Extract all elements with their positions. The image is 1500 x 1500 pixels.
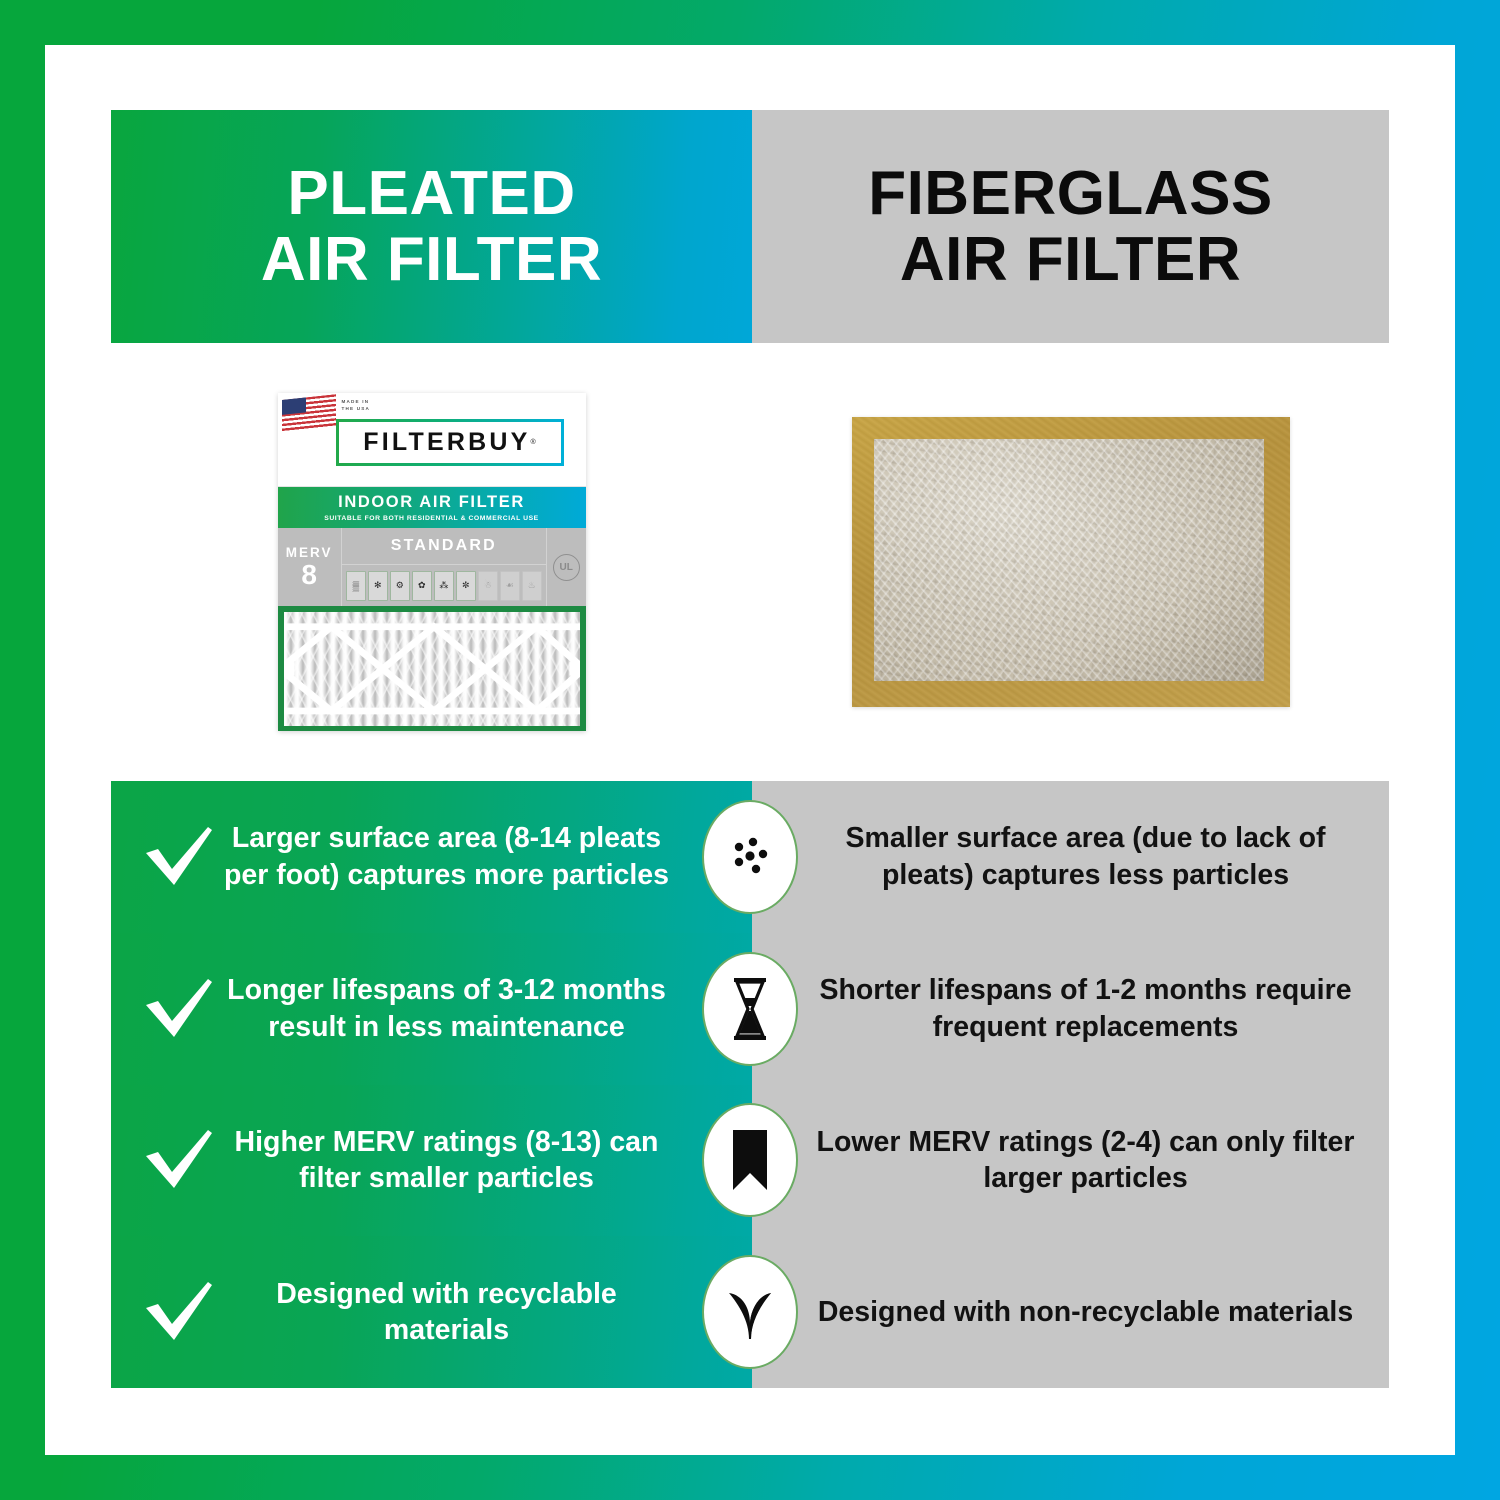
inner-canvas: PLEATED AIR FILTER FIBERGLASS AIR FILTER… [45, 45, 1455, 1455]
particles-icon [702, 800, 798, 914]
brand-frame: FILTERBUY® [336, 419, 564, 466]
pleated-benefit-text: Larger surface area (8-14 pleats per foo… [221, 820, 730, 893]
comparison-row: Longer lifespans of 3-12 months result i… [111, 933, 1389, 1085]
merv-label: MERV [286, 545, 333, 560]
fiberglass-drawback-cell: Shorter lifespans of 1-2 months require … [752, 933, 1389, 1085]
fiberglass-filter-image [852, 417, 1290, 707]
hair-icon: ⁂ [434, 571, 454, 601]
pleated-benefit-cell: Designed with recyclable materials [111, 1236, 752, 1388]
check-icon [137, 977, 221, 1041]
header-fiberglass-title: FIBERGLASS AIR FILTER [868, 161, 1273, 291]
pleated-media-area [278, 606, 586, 731]
box-band-subtitle: SUITABLE FOR BOTH RESIDENTIAL & COMMERCI… [324, 515, 538, 522]
product-cell-fiberglass [752, 343, 1389, 781]
filterbuy-box-image: MADE IN THE USA FILTERBUY® INDOOR AIR FI… [278, 393, 586, 731]
product-cell-pleated: MADE IN THE USA FILTERBUY® INDOOR AIR FI… [111, 343, 752, 781]
bookmark-icon [702, 1103, 798, 1217]
capture-icon-strip: ▒✻⚙✿⁂✼☃☙♨ [342, 565, 546, 606]
made-in-usa-label: MADE IN THE USA [342, 399, 371, 413]
header-fiberglass: FIBERGLASS AIR FILTER [752, 110, 1389, 343]
box-spec-area: MERV 8 STANDARD ▒✻⚙✿⁂✼☃☙♨ UL [278, 528, 586, 606]
fiberglass-drawback-text: Designed with non-recyclable materials [812, 1294, 1359, 1330]
us-flag-icon [282, 394, 336, 432]
bacteria-icon: ☙ [500, 571, 520, 601]
header-pleated: PLEATED AIR FILTER [111, 110, 752, 343]
fiber-shading [874, 439, 1264, 681]
brand-trademark: ® [531, 439, 536, 446]
fiberglass-drawback-cell: Smaller surface area (due to lack of ple… [752, 781, 1389, 933]
certification-cell: UL [546, 528, 586, 606]
comparison-infographic: PLEATED AIR FILTER FIBERGLASS AIR FILTER… [0, 0, 1500, 1500]
fiberglass-drawback-text: Lower MERV ratings (2-4) can only filter… [812, 1124, 1359, 1197]
pleated-benefit-cell: Longer lifespans of 3-12 months result i… [111, 933, 752, 1085]
fiberglass-drawback-text: Smaller surface area (due to lack of ple… [812, 820, 1359, 893]
smoke-icon: ☃ [478, 571, 498, 601]
merv-value: 8 [301, 561, 317, 589]
box-product-band: INDOOR AIR FILTER SUITABLE FOR BOTH RESI… [278, 487, 586, 528]
comparison-row: Designed with recyclable materialsDesign… [111, 1236, 1389, 1388]
header-pleated-title: PLEATED AIR FILTER [261, 161, 602, 291]
pleated-benefit-text: Designed with recyclable materials [221, 1276, 730, 1349]
product-image-band: MADE IN THE USA FILTERBUY® INDOOR AIR FI… [111, 343, 1389, 781]
check-icon [137, 825, 221, 889]
virus-icon: ♨ [522, 571, 542, 601]
leaf-sprout-icon [702, 1255, 798, 1369]
pet-dander-icon: ✼ [456, 571, 476, 601]
mildew-icon: ✿ [412, 571, 432, 601]
comparison-panel: Larger surface area (8-14 pleats per foo… [111, 781, 1389, 1388]
comparison-row: Higher MERV ratings (8-13) can filter sm… [111, 1085, 1389, 1237]
pleated-benefit-text: Higher MERV ratings (8-13) can filter sm… [221, 1124, 730, 1197]
hourglass-icon [702, 952, 798, 1066]
check-icon [137, 1128, 221, 1192]
fiberglass-drawback-cell: Lower MERV ratings (2-4) can only filter… [752, 1085, 1389, 1237]
fiberglass-media [874, 439, 1264, 681]
mold-spores-icon: ⚙ [390, 571, 410, 601]
brand-name: FILTERBUY [363, 428, 530, 457]
pleated-benefit-cell: Larger surface area (8-14 pleats per foo… [111, 781, 752, 933]
box-band-title: INDOOR AIR FILTER [338, 493, 525, 512]
grade-label: STANDARD [391, 537, 497, 555]
pollen-icon: ✻ [368, 571, 388, 601]
ul-certification-icon: UL [553, 554, 580, 581]
box-grade-cell: STANDARD ▒✻⚙✿⁂✼☃☙♨ [342, 528, 546, 606]
pleated-benefit-cell: Higher MERV ratings (8-13) can filter sm… [111, 1085, 752, 1237]
merv-rating-cell: MERV 8 [278, 528, 342, 606]
check-icon [137, 1280, 221, 1344]
fiberglass-drawback-cell: Designed with non-recyclable materials [752, 1236, 1389, 1388]
grade-row: STANDARD [342, 528, 546, 565]
diamond-support-grid [284, 621, 580, 717]
header-row: PLEATED AIR FILTER FIBERGLASS AIR FILTER [111, 110, 1389, 343]
fiberglass-drawback-text: Shorter lifespans of 1-2 months require … [812, 972, 1359, 1045]
comparison-row: Larger surface area (8-14 pleats per foo… [111, 781, 1389, 933]
pleated-benefit-text: Longer lifespans of 3-12 months result i… [221, 972, 730, 1045]
pleat-media [284, 612, 580, 726]
dust-lint-icon: ▒ [346, 571, 366, 601]
box-top-section: MADE IN THE USA FILTERBUY® [278, 393, 586, 487]
